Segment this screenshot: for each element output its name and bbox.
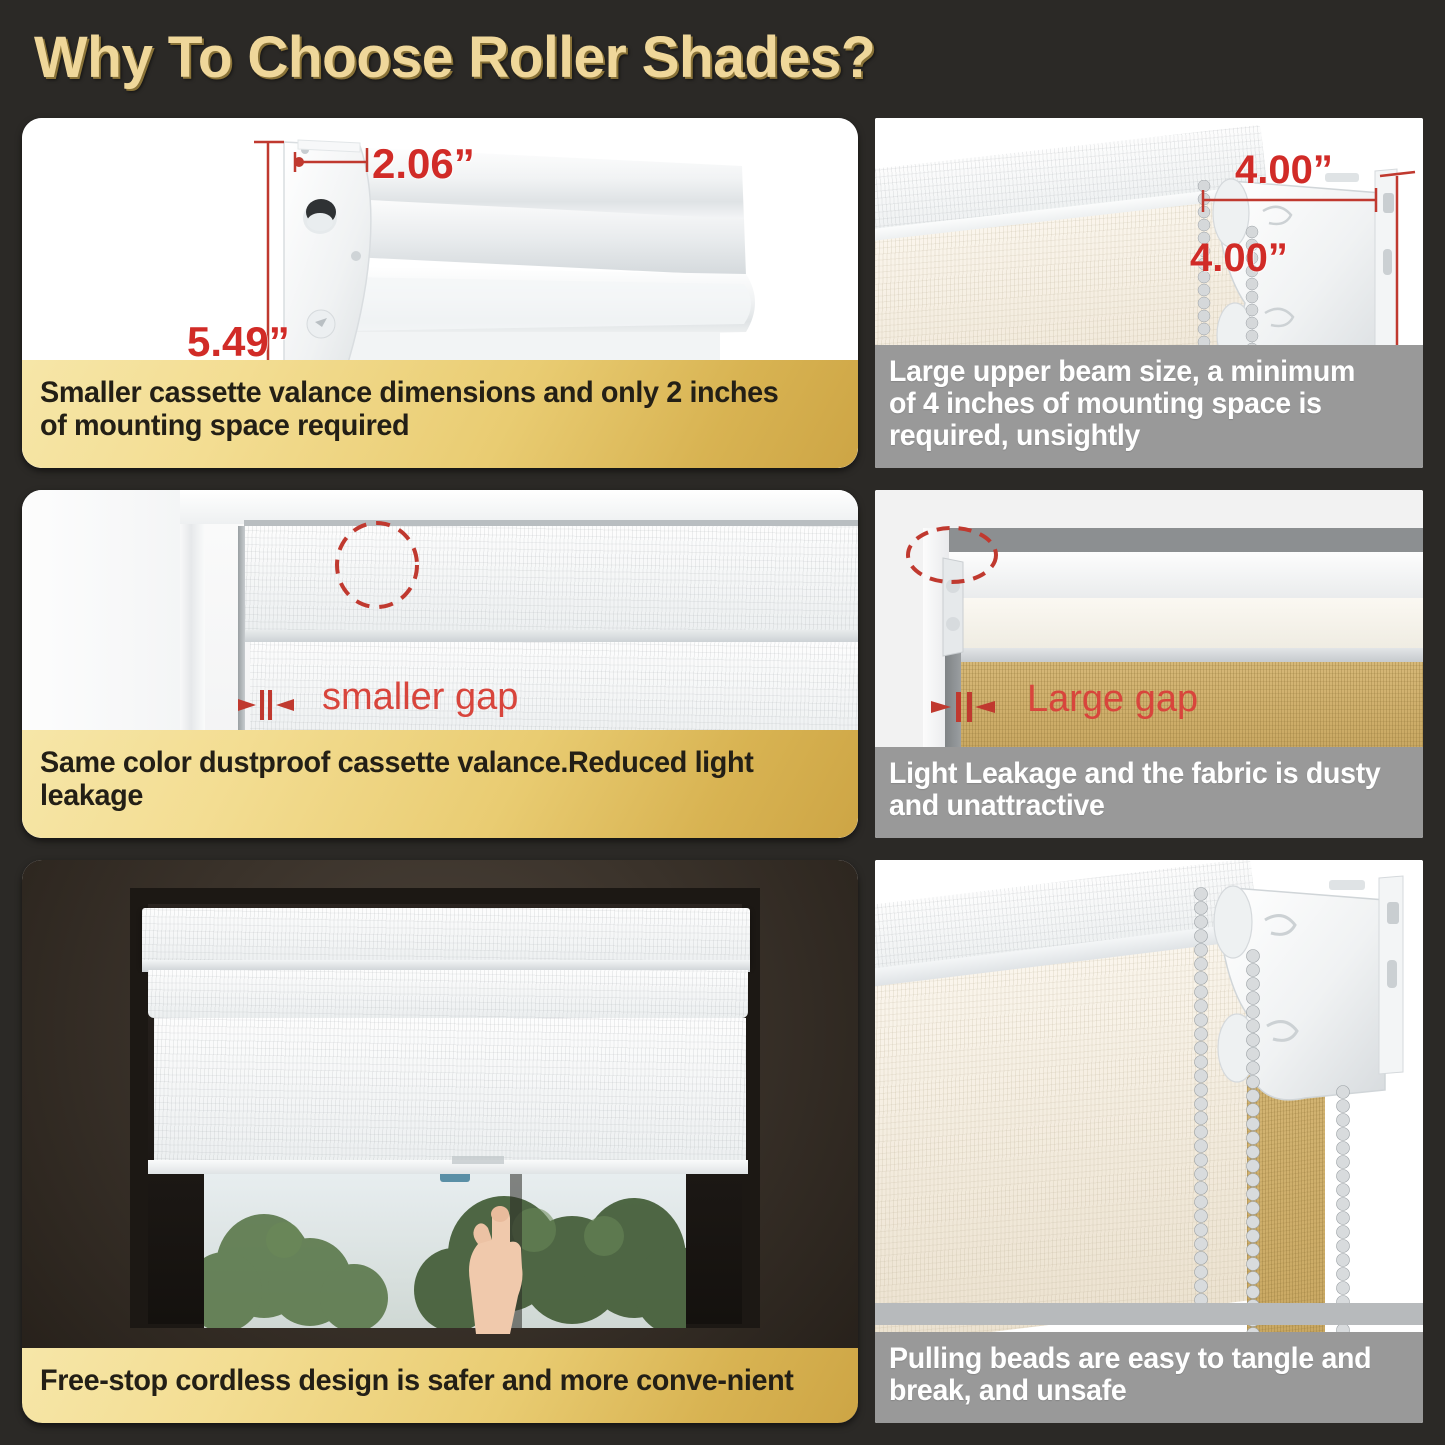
valance-lip	[244, 630, 858, 642]
panel-4-caption-text: Light Leakage and the fabric is dusty an…	[889, 758, 1383, 822]
valance-bottom-lip	[955, 648, 1423, 662]
panel-2-caption: Large upper beam size, a minimum of 4 in…	[875, 345, 1423, 468]
panel-5-caption-text: Free-stop cordless design is safer and m…	[40, 1364, 808, 1397]
hand-icon	[426, 1178, 546, 1338]
dimension-width-label: 4.00”	[1235, 148, 1333, 193]
panel-1-caption: Smaller cassette valance dimensions and …	[22, 360, 858, 468]
shade-fabric	[154, 1018, 746, 1166]
panel-dustproof-valance: smaller gap Same color dustproof cassett…	[22, 490, 858, 838]
dashed-circle-callout	[317, 515, 437, 625]
bead-chain-illustration	[1187, 886, 1423, 1346]
wall-left	[22, 490, 180, 750]
panel-2-caption-text: Large upper beam size, a minimum of 4 in…	[889, 356, 1383, 452]
panel-3-caption-text: Same color dustproof cassette valance.Re…	[40, 746, 808, 812]
panel-pulling-beads: Pulling beads are easy to tangle and bre…	[875, 860, 1423, 1423]
panel-4-caption: Light Leakage and the fabric is dusty an…	[875, 747, 1423, 838]
dimension-height-label: 5.49”	[187, 318, 290, 366]
large-gap-label: Large gap	[1027, 678, 1198, 721]
infographic-root: Why To Choose Roller Shades?	[0, 0, 1445, 1445]
cassette-head-lower	[148, 970, 748, 1018]
page-title: Why To Choose Roller Shades?	[34, 22, 1210, 94]
valance-top	[949, 552, 1423, 600]
panel-6-caption-text: Pulling beads are easy to tangle and bre…	[889, 1343, 1383, 1407]
panel-smaller-cassette: 2.06” 5.49” Smaller cassette valance dim…	[22, 118, 858, 468]
floor-shadow	[875, 1303, 1423, 1325]
cassette-head	[142, 908, 750, 966]
shade-brand-mark	[452, 1156, 504, 1164]
dimension-width-label: 2.06”	[372, 140, 475, 188]
panel-5-photo	[22, 860, 858, 1423]
panel-6-caption: Pulling beads are easy to tangle and bre…	[875, 1332, 1423, 1423]
panel-3-caption: Same color dustproof cassette valance.Re…	[22, 730, 858, 838]
dimension-height-label: 4.00”	[1190, 236, 1288, 281]
window-frame	[177, 490, 205, 750]
panel-large-upper-beam: 4.00” 4.00” Large upper beam size, a min…	[875, 118, 1423, 468]
panel-5-caption: Free-stop cordless design is safer and m…	[22, 1348, 858, 1423]
panel-light-leakage: Large gap Light Leakage and the fabric i…	[875, 490, 1423, 838]
panel-1-caption-text: Smaller cassette valance dimensions and …	[40, 376, 808, 442]
valance-face	[955, 598, 1423, 650]
dashed-circle-callout	[897, 520, 1007, 590]
smaller-gap-label: smaller gap	[322, 676, 518, 719]
panel-cordless-design: Free-stop cordless design is safer and m…	[22, 860, 858, 1423]
window-frame-top	[177, 490, 858, 524]
shade-bottom-rail	[148, 1160, 748, 1174]
